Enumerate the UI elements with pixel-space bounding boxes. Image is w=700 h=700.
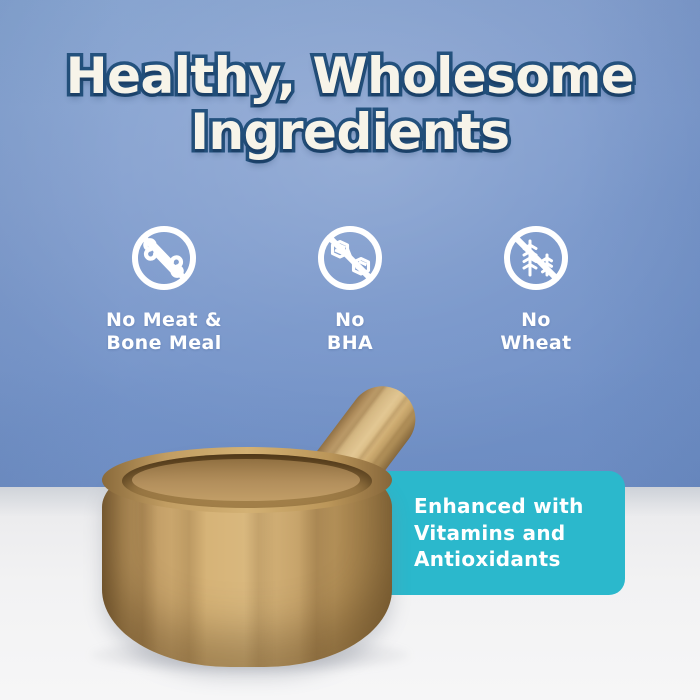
product-feature-poster: Healthy, Wholesome Ingredients No Meat &… bbox=[0, 0, 700, 700]
feature-badge-no-bha: No BHA bbox=[257, 224, 443, 355]
feature-badge-label: No BHA bbox=[327, 309, 373, 355]
feature-badge-no-wheat: No Wheat bbox=[443, 224, 629, 355]
product-photo-mortar-and-pestle bbox=[60, 355, 480, 685]
no-bha-icon bbox=[316, 224, 384, 292]
page-title: Healthy, Wholesome Ingredients bbox=[0, 48, 700, 160]
mortar-cavity-highlight bbox=[132, 459, 360, 501]
no-wheat-icon bbox=[502, 224, 570, 292]
feature-badge-label: No Wheat bbox=[500, 309, 571, 355]
feature-badge-row: No Meat & Bone Meal bbox=[0, 224, 700, 355]
feature-badge-label: No Meat & Bone Meal bbox=[106, 309, 222, 355]
no-meat-bone-meal-icon bbox=[130, 224, 198, 292]
feature-badge-no-meat-bone-meal: No Meat & Bone Meal bbox=[71, 224, 257, 355]
